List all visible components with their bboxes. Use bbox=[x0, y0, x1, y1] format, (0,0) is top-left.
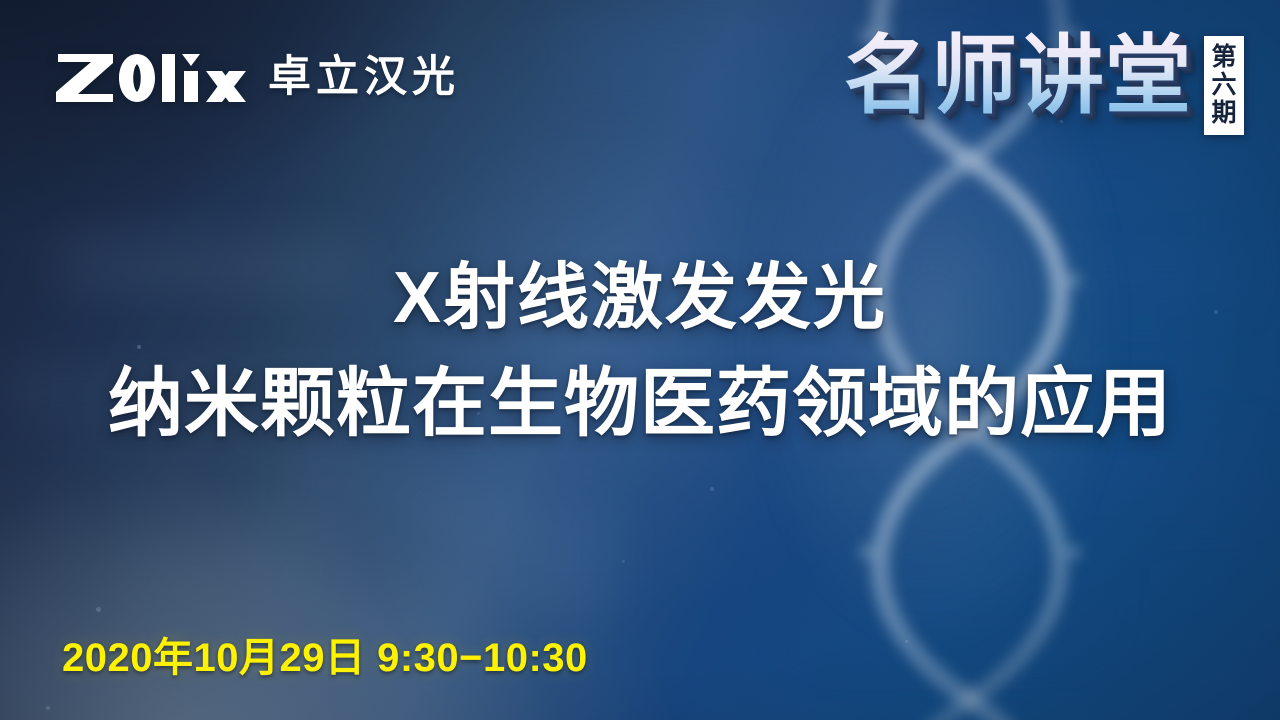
zolix-wordmark-icon bbox=[56, 52, 246, 104]
brand-chinese-name: 卓立汉光 bbox=[268, 56, 460, 101]
badge-char-3: 期 bbox=[1204, 99, 1244, 127]
series-title-block: 名师讲堂 名师讲堂 第 六 期 bbox=[844, 30, 1244, 135]
badge-char-1: 第 bbox=[1204, 43, 1244, 71]
lecture-title-line-2: 纳米颗粒在生物医药领域的应用 bbox=[0, 365, 1280, 442]
schedule-datetime: 2020年10月29日 9:30−10:30 bbox=[62, 638, 588, 678]
series-episode-badge: 第 六 期 bbox=[1204, 36, 1244, 135]
webinar-poster: 卓立汉光 名师讲堂 名师讲堂 第 六 期 X射线激发发光 纳米颗粒在生物医药领域… bbox=[0, 0, 1280, 720]
lecture-title-block: X射线激发发光 纳米颗粒在生物医药领域的应用 bbox=[0, 262, 1280, 442]
lecture-title-line-1: X射线激发发光 bbox=[0, 262, 1280, 335]
badge-char-2: 六 bbox=[1204, 71, 1244, 99]
brand-logo: 卓立汉光 bbox=[56, 52, 460, 104]
series-title-face: 名师讲堂 bbox=[844, 28, 1192, 124]
series-title: 名师讲堂 名师讲堂 bbox=[844, 30, 1192, 123]
